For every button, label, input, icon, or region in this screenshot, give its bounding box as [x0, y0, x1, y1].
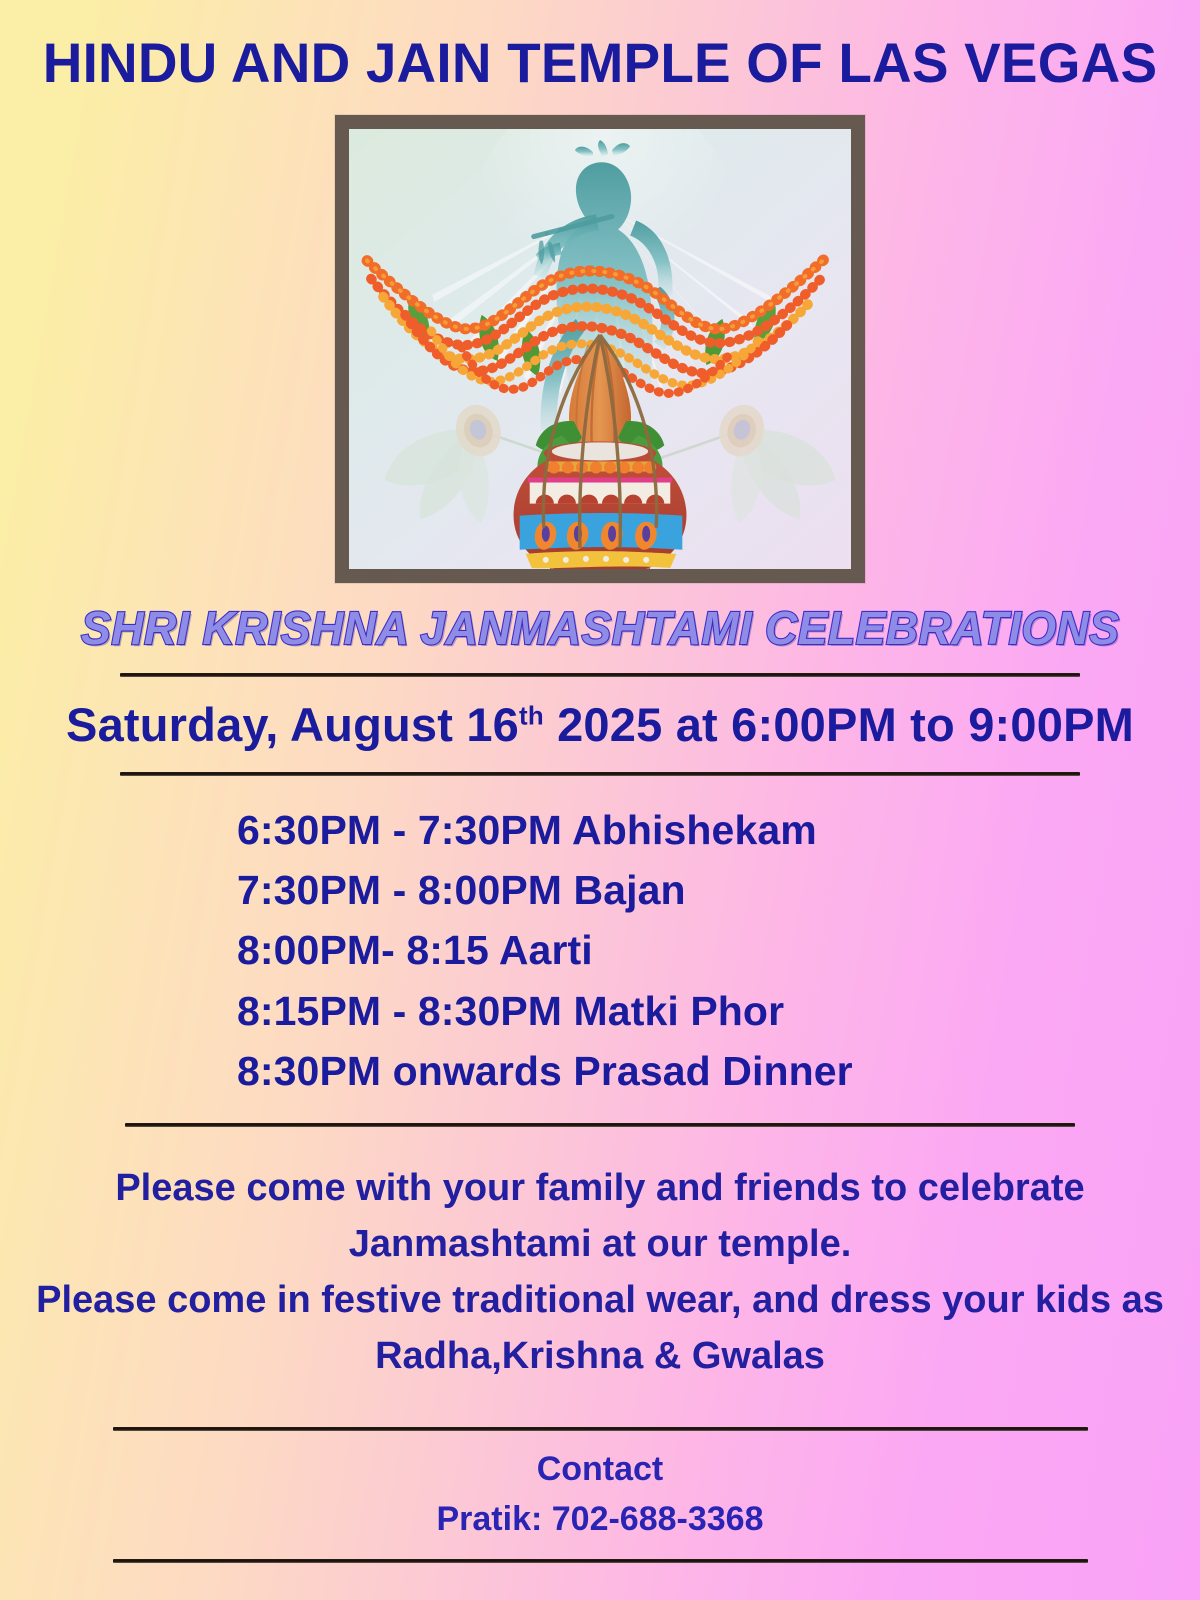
event-date-prefix: Saturday, August 16: [66, 698, 519, 751]
schedule-list: 6:30PM - 7:30PM Abhishekam 7:30PM - 8:00…: [125, 800, 1075, 1101]
event-date: Saturday, August 16th 2025 at 6:00PM to …: [66, 697, 1134, 752]
divider-below-date: [120, 772, 1080, 776]
list-item: 8:00PM- 8:15 Aarti: [237, 920, 1075, 980]
page-title: HINDU AND JAIN TEMPLE OF LAS VEGAS: [32, 0, 1169, 93]
invite-line-3: Please come in festive traditional wear,…: [10, 1273, 1190, 1329]
flyer-root: HINDU AND JAIN TEMPLE OF LAS VEGAS: [0, 0, 1200, 1600]
list-item: 8:15PM - 8:30PM Matki Phor: [237, 981, 1075, 1041]
contact-phone[interactable]: Pratik: 702-688-3368: [436, 1495, 763, 1543]
divider-above-date: [120, 673, 1080, 677]
invite-line-4: Radha,Krishna & Gwalas: [10, 1329, 1190, 1385]
artwork-frame: [335, 115, 865, 583]
list-item: 7:30PM - 8:00PM Bajan: [237, 860, 1075, 920]
divider-below-contact: [113, 1559, 1088, 1563]
list-item: 6:30PM - 7:30PM Abhishekam: [237, 800, 1075, 860]
contact-block: Contact Pratik: 702-688-3368: [436, 1431, 763, 1544]
divider-below-schedule: [125, 1123, 1075, 1127]
event-date-ordinal: th: [519, 702, 544, 730]
invite-line-1: Please come with your family and friends…: [10, 1161, 1190, 1217]
invite-paragraph: Please come with your family and friends…: [10, 1161, 1190, 1384]
event-subtitle: SHRI KRISHNA JANMASHTAMI CELEBRATIONS: [81, 601, 1119, 655]
invite-line-2: Janmashtami at our temple.: [10, 1217, 1190, 1273]
krishna-janmashtami-illustration: [349, 129, 851, 569]
list-item: 8:30PM onwards Prasad Dinner: [237, 1041, 1075, 1101]
contact-heading: Contact: [436, 1445, 763, 1493]
event-date-suffix: 2025 at 6:00PM to 9:00PM: [544, 698, 1134, 751]
